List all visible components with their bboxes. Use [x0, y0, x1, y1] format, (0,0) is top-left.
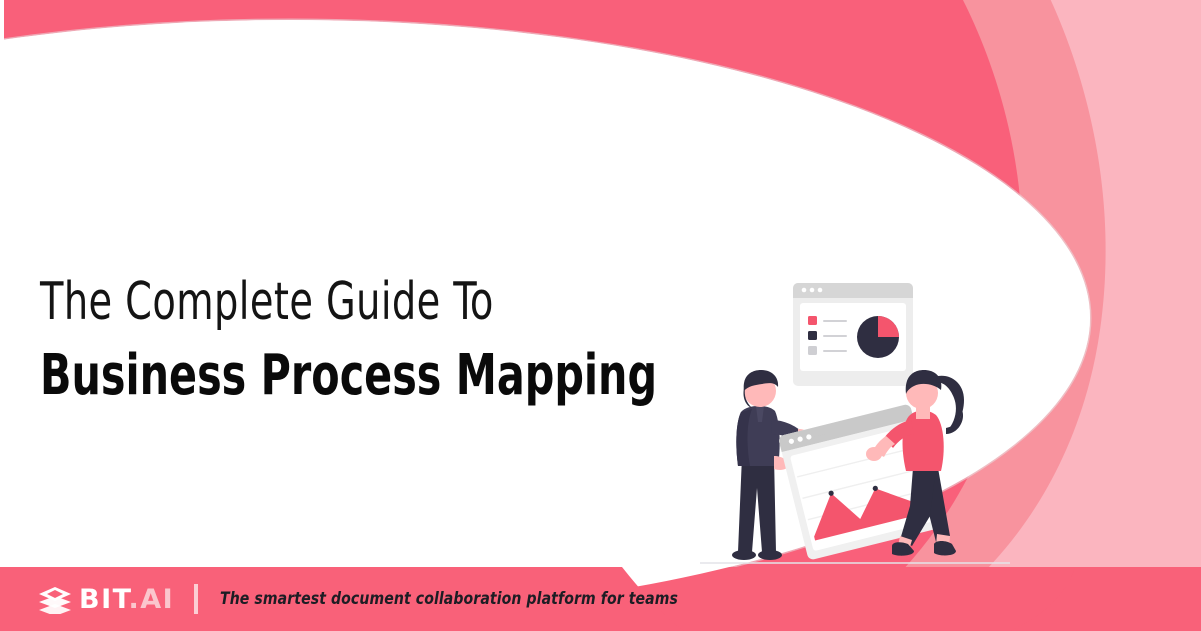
legend-swatch-2	[808, 331, 817, 340]
bit-ai-logo[interactable]: BIT.AI	[38, 584, 174, 615]
pie-card-dot-1	[802, 288, 807, 293]
legend-swatch-1	[808, 316, 817, 325]
logo-wordmark: BIT.AI	[79, 584, 174, 615]
pie-card-titlebar-base	[793, 292, 913, 298]
logo-text-dot: .	[128, 584, 140, 615]
illustration-analytics-teamwork	[700, 270, 1020, 590]
headline-line-1: The Complete Guide To	[40, 272, 598, 333]
woman-top	[903, 411, 944, 472]
footer-bar: BIT.AI The smartest document collaborati…	[0, 567, 1201, 631]
woman-shoe-back	[934, 541, 956, 555]
pie-card-dot-3	[818, 288, 823, 293]
logo-text-ai: AI	[140, 584, 174, 615]
woman-hand	[866, 447, 882, 461]
footer-divider	[194, 584, 198, 614]
logo-text-bit: BIT	[79, 584, 128, 615]
pie-chart-browser-card	[793, 283, 913, 386]
headline-line-2: Business Process Mapping	[40, 343, 598, 409]
legend-line-1	[823, 320, 847, 322]
pie-card-dot-2	[810, 288, 815, 293]
legend-swatch-3	[808, 346, 817, 355]
headline-block: The Complete Guide To Business Process M…	[40, 272, 720, 409]
marketing-banner: The Complete Guide To Business Process M…	[0, 0, 1201, 631]
footer-content: BIT.AI The smartest document collaborati…	[38, 567, 718, 631]
legend-line-2	[823, 335, 847, 337]
stacked-layers-icon	[38, 584, 72, 614]
legend-line-3	[823, 350, 847, 352]
man-shoe-left	[732, 550, 756, 560]
footer-tagline: The smartest document collaboration plat…	[220, 589, 678, 609]
man-legs	[738, 456, 776, 552]
man-shoe-right	[758, 550, 782, 560]
